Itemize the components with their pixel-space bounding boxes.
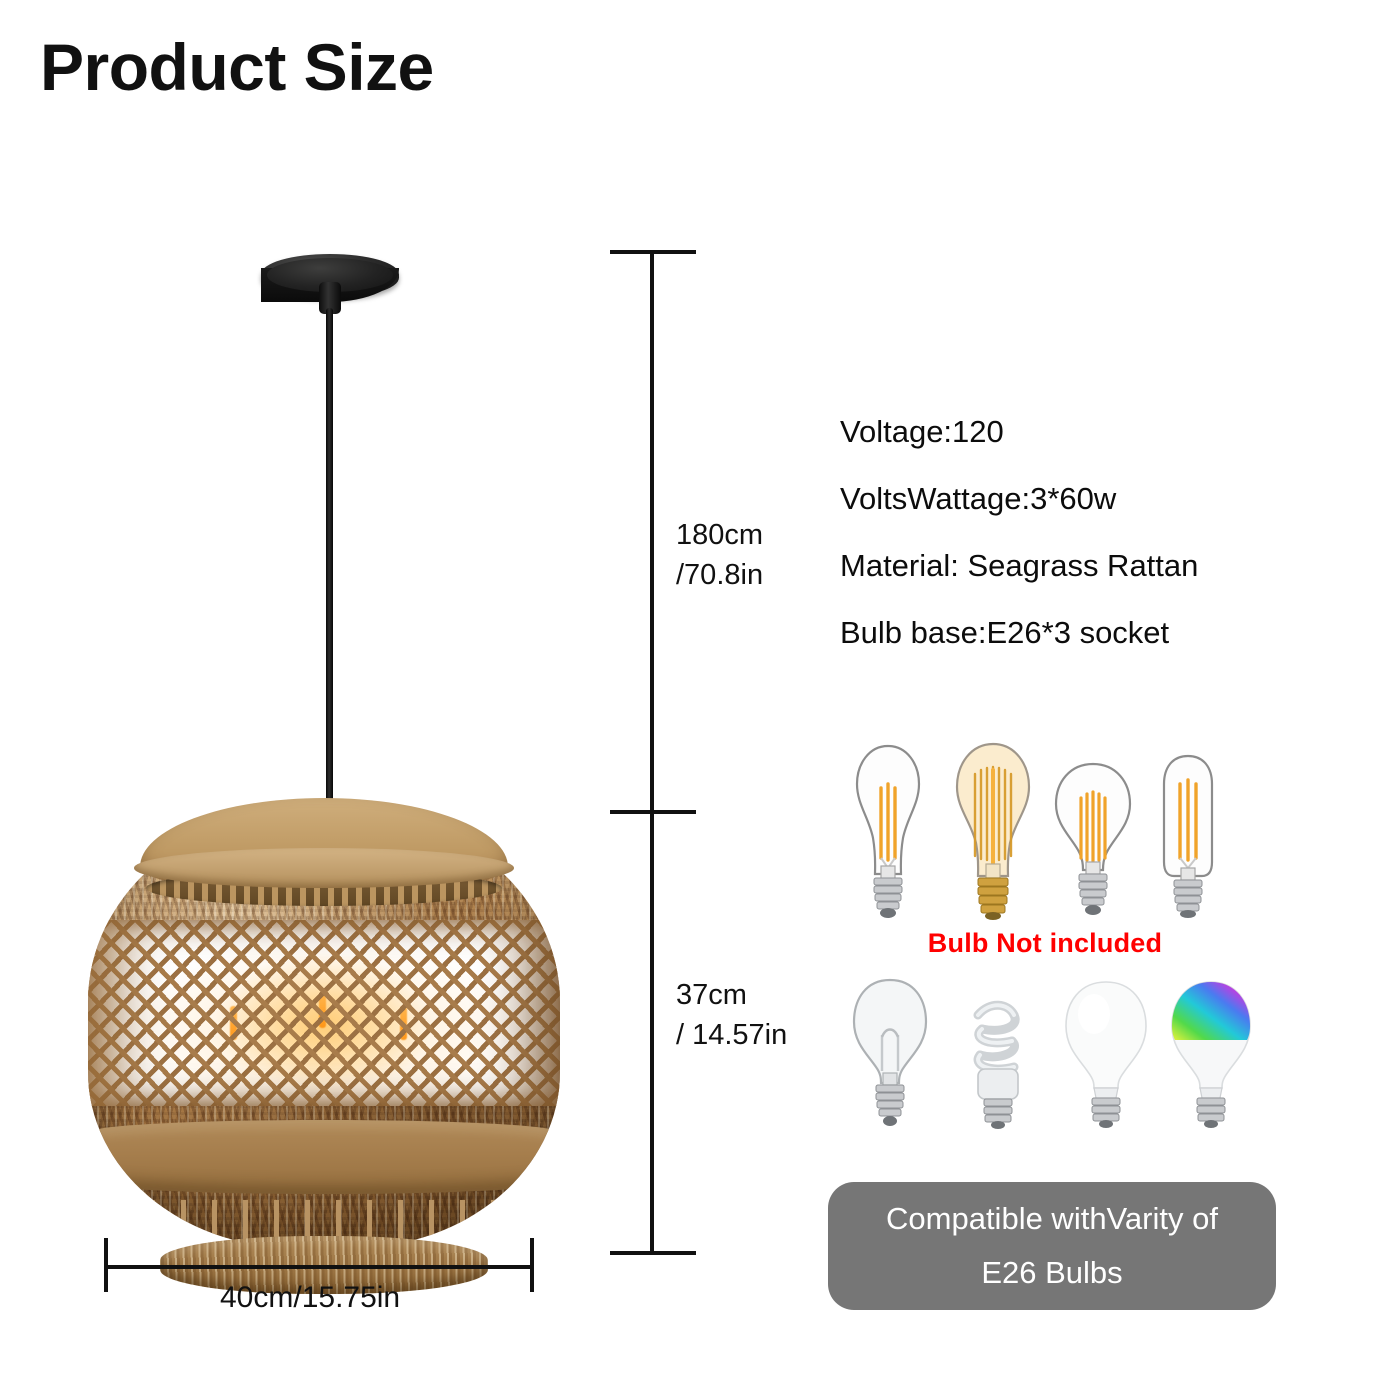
woven-rattan-shade [88,808,560,1248]
total-height-label: 180cm /70.8in [676,515,763,595]
dimension-tick-top [610,250,696,254]
a19-frosted-led-bulb-icon [1060,978,1152,1130]
spec-bulb-base: Bulb base:E26*3 socket [840,599,1310,666]
open-lattice-band [88,920,560,1106]
compatible-bulbs-row-2 [848,975,1238,1130]
product-size-infographic: Product Size [0,0,1400,1400]
width-label: 40cm/15.75in [220,1278,400,1318]
width-cap-right [530,1238,534,1292]
a19-clear-incandescent-bulb-icon [848,975,932,1130]
shade-top-ring [134,848,514,888]
total-height-in: /70.8in [676,555,763,595]
lower-woven-band [92,1120,556,1194]
st64-clear-edison-bulb-icon [845,740,931,920]
specification-list: Voltage:120 VoltsWattage:3*60w Material:… [840,398,1310,666]
vertical-dimension-line [650,250,654,1255]
width-dimension-line [104,1265,534,1269]
shade-height-cm: 37cm [676,975,787,1015]
shade-height-label: 37cm / 14.57in [676,975,787,1055]
cfl-spiral-bulb-icon [956,989,1038,1131]
hanging-cord [326,308,333,816]
compatible-bulbs-row-1 [845,740,1235,920]
width-cap-left [104,1238,108,1292]
dimension-tick-middle [610,810,696,814]
compatibility-callout-box: Compatible withVarity of E26 Bulbs [828,1182,1276,1310]
bulb-not-included-note: Bulb Not included [845,928,1245,959]
total-height-cm: 180cm [676,515,763,555]
cta-line-2: E26 Bulbs [981,1246,1122,1300]
t45-tubular-filament-bulb-icon [1150,750,1226,920]
pendant-lamp-illustration [70,230,590,1270]
st64-amber-vintage-bulb-icon [945,740,1041,920]
spec-wattage: VoltsWattage:3*60w [840,465,1310,532]
spec-material: Material: Seagrass Rattan [840,532,1310,599]
shade-height-in: / 14.57in [676,1015,787,1055]
dimension-tick-bottom [610,1251,696,1255]
page-title: Product Size [40,34,434,100]
a19-clear-filament-bulb-icon [1050,758,1136,920]
spec-voltage: Voltage:120 [840,398,1310,465]
cta-line-1: Compatible withVarity of [886,1192,1218,1246]
lattice-mesh [88,920,560,1106]
rgb-smart-led-bulb-icon [1166,978,1256,1130]
